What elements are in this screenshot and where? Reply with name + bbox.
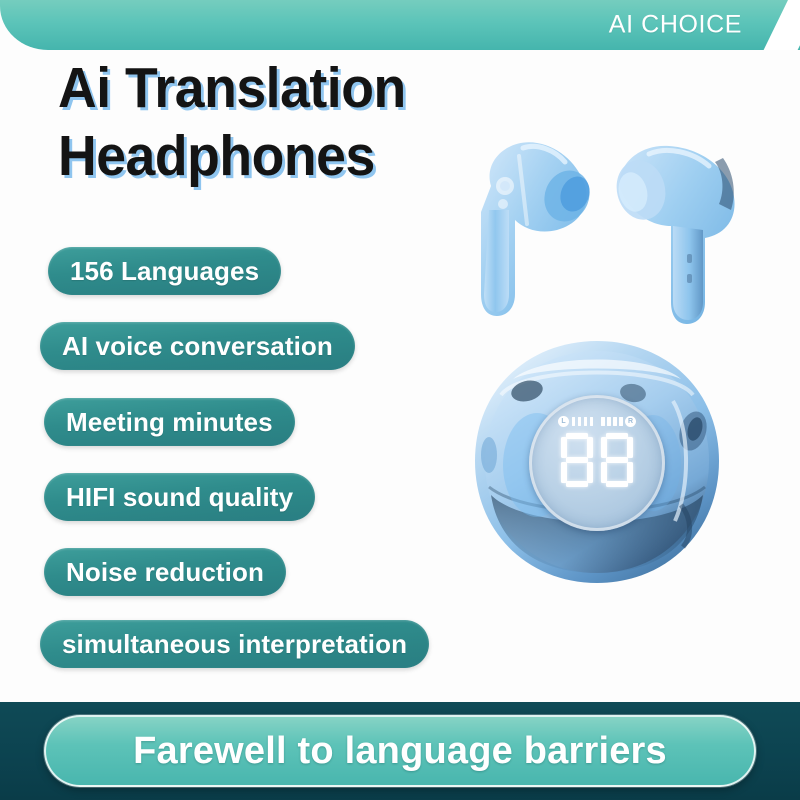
bottom-banner: Farewell to language barriers bbox=[0, 702, 800, 800]
case-led-display: L R bbox=[529, 395, 665, 531]
battery-bar bbox=[590, 417, 594, 426]
battery-bar bbox=[572, 417, 576, 426]
feature-pill-simultaneous-interpretation: simultaneous interpretation bbox=[40, 620, 429, 668]
tagline-pill: Farewell to language barriers bbox=[44, 715, 756, 787]
feature-pill-label: Meeting minutes bbox=[66, 407, 273, 438]
battery-bar bbox=[578, 417, 582, 426]
tagline-label: Farewell to language barriers bbox=[133, 730, 667, 773]
feature-pill-meeting-minutes: Meeting minutes bbox=[44, 398, 295, 446]
feature-pill-label: AI voice conversation bbox=[62, 331, 333, 362]
charging-case-icon: L R bbox=[467, 335, 727, 590]
battery-bar bbox=[584, 417, 588, 426]
battery-bar bbox=[601, 417, 605, 426]
feature-pill-label: Noise reduction bbox=[66, 557, 264, 588]
product-ad-poster: AI CHOICE Ai Translation Headphones 156 … bbox=[0, 0, 800, 800]
left-channel-icon: L bbox=[558, 416, 569, 427]
battery-percent-digits bbox=[561, 433, 633, 487]
feature-pill-label: 156 Languages bbox=[70, 256, 259, 287]
feature-pill-hifi-sound: HIFI sound quality bbox=[44, 473, 315, 521]
feature-pill-noise-reduction: Noise reduction bbox=[44, 548, 286, 596]
battery-indicator-row: L R bbox=[558, 416, 636, 427]
seven-segment-digit bbox=[601, 433, 633, 487]
feature-pill-label: HIFI sound quality bbox=[66, 482, 293, 513]
battery-bar bbox=[613, 417, 617, 426]
feature-pill-voice-conversation: AI voice conversation bbox=[40, 322, 355, 370]
headline-line-1: Ai Translation bbox=[58, 54, 547, 122]
earbud-left-icon bbox=[475, 134, 625, 334]
earbud-right-icon bbox=[615, 138, 765, 338]
product-image-group: L R bbox=[455, 120, 800, 630]
top-banner: AI CHOICE bbox=[0, 0, 800, 50]
right-channel-icon: R bbox=[625, 416, 636, 427]
battery-bar bbox=[607, 417, 611, 426]
feature-pill-languages: 156 Languages bbox=[48, 247, 281, 295]
seven-segment-digit bbox=[561, 433, 593, 487]
battery-bar bbox=[619, 417, 623, 426]
ai-choice-label: AI CHOICE bbox=[609, 11, 742, 40]
feature-pill-label: simultaneous interpretation bbox=[62, 629, 407, 660]
